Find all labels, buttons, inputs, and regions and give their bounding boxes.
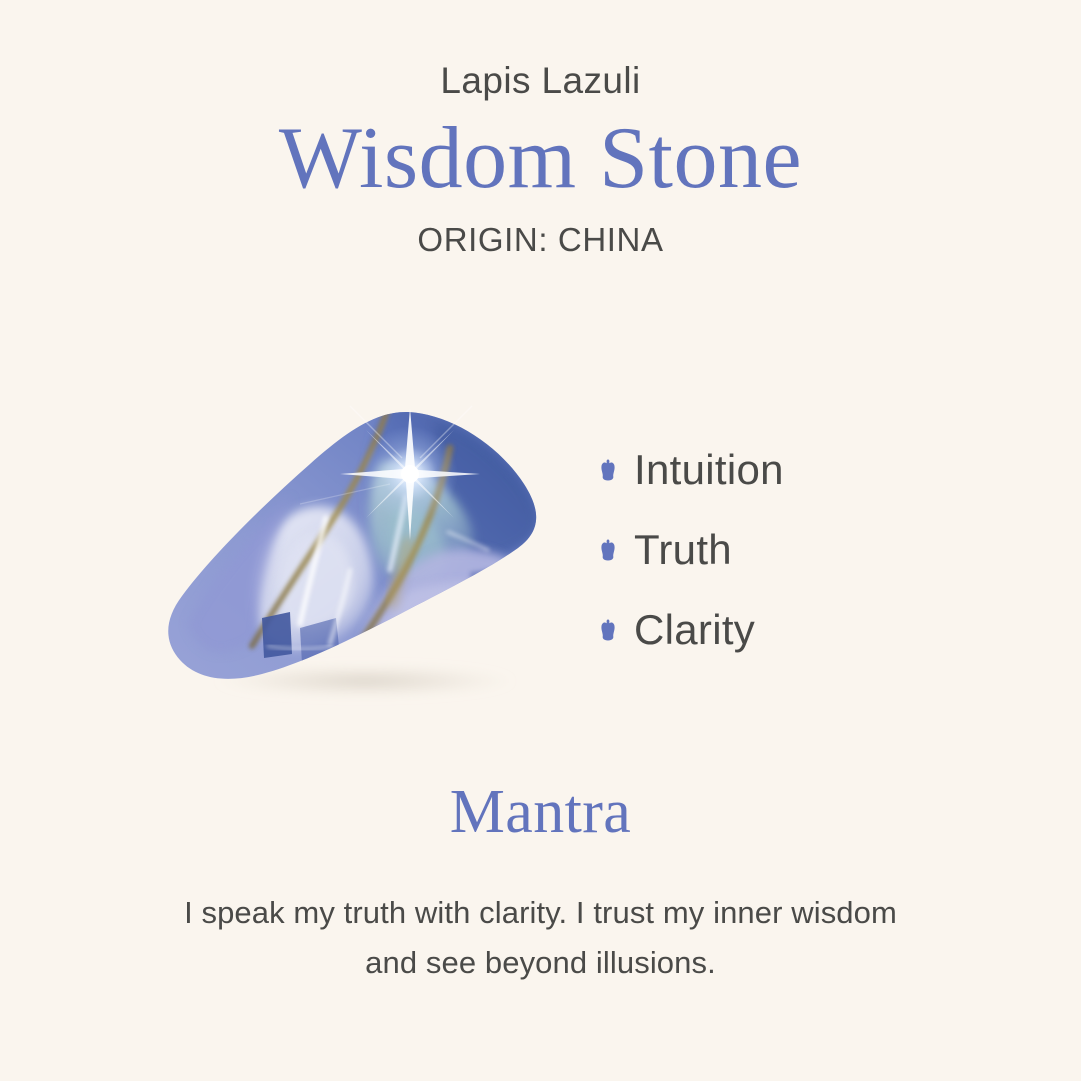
mantra-heading: Mantra <box>0 778 1081 846</box>
attributes-list: Intuition Truth Clarity <box>600 430 1020 670</box>
stone-and-attributes-section: Intuition Truth Clarity <box>0 392 1081 722</box>
gem-bullet-icon <box>600 539 616 561</box>
stone-info-card: Lapis Lazuli Wisdom Stone ORIGIN: CHINA <box>0 0 1081 1081</box>
list-item: Intuition <box>600 430 1020 510</box>
attribute-label: Clarity <box>634 609 755 651</box>
attribute-label: Truth <box>634 529 732 571</box>
stone-name-eyebrow: Lapis Lazuli <box>0 62 1081 99</box>
page-title: Wisdom Stone <box>0 113 1081 205</box>
lapis-lazuli-stone-icon <box>150 392 560 712</box>
stone-illustration <box>150 392 560 712</box>
mantra-section: Mantra I speak my truth with clarity. I … <box>0 778 1081 989</box>
mantra-text: I speak my truth with clarity. I trust m… <box>161 888 921 988</box>
gem-bullet-icon <box>600 619 616 641</box>
gem-bullet-icon <box>600 459 616 481</box>
stone-body <box>150 392 560 712</box>
list-item: Clarity <box>600 590 1020 670</box>
attribute-label: Intuition <box>634 449 784 491</box>
card-header: Lapis Lazuli Wisdom Stone ORIGIN: CHINA <box>0 0 1081 256</box>
list-item: Truth <box>600 510 1020 590</box>
origin-label: ORIGIN: CHINA <box>0 223 1081 256</box>
